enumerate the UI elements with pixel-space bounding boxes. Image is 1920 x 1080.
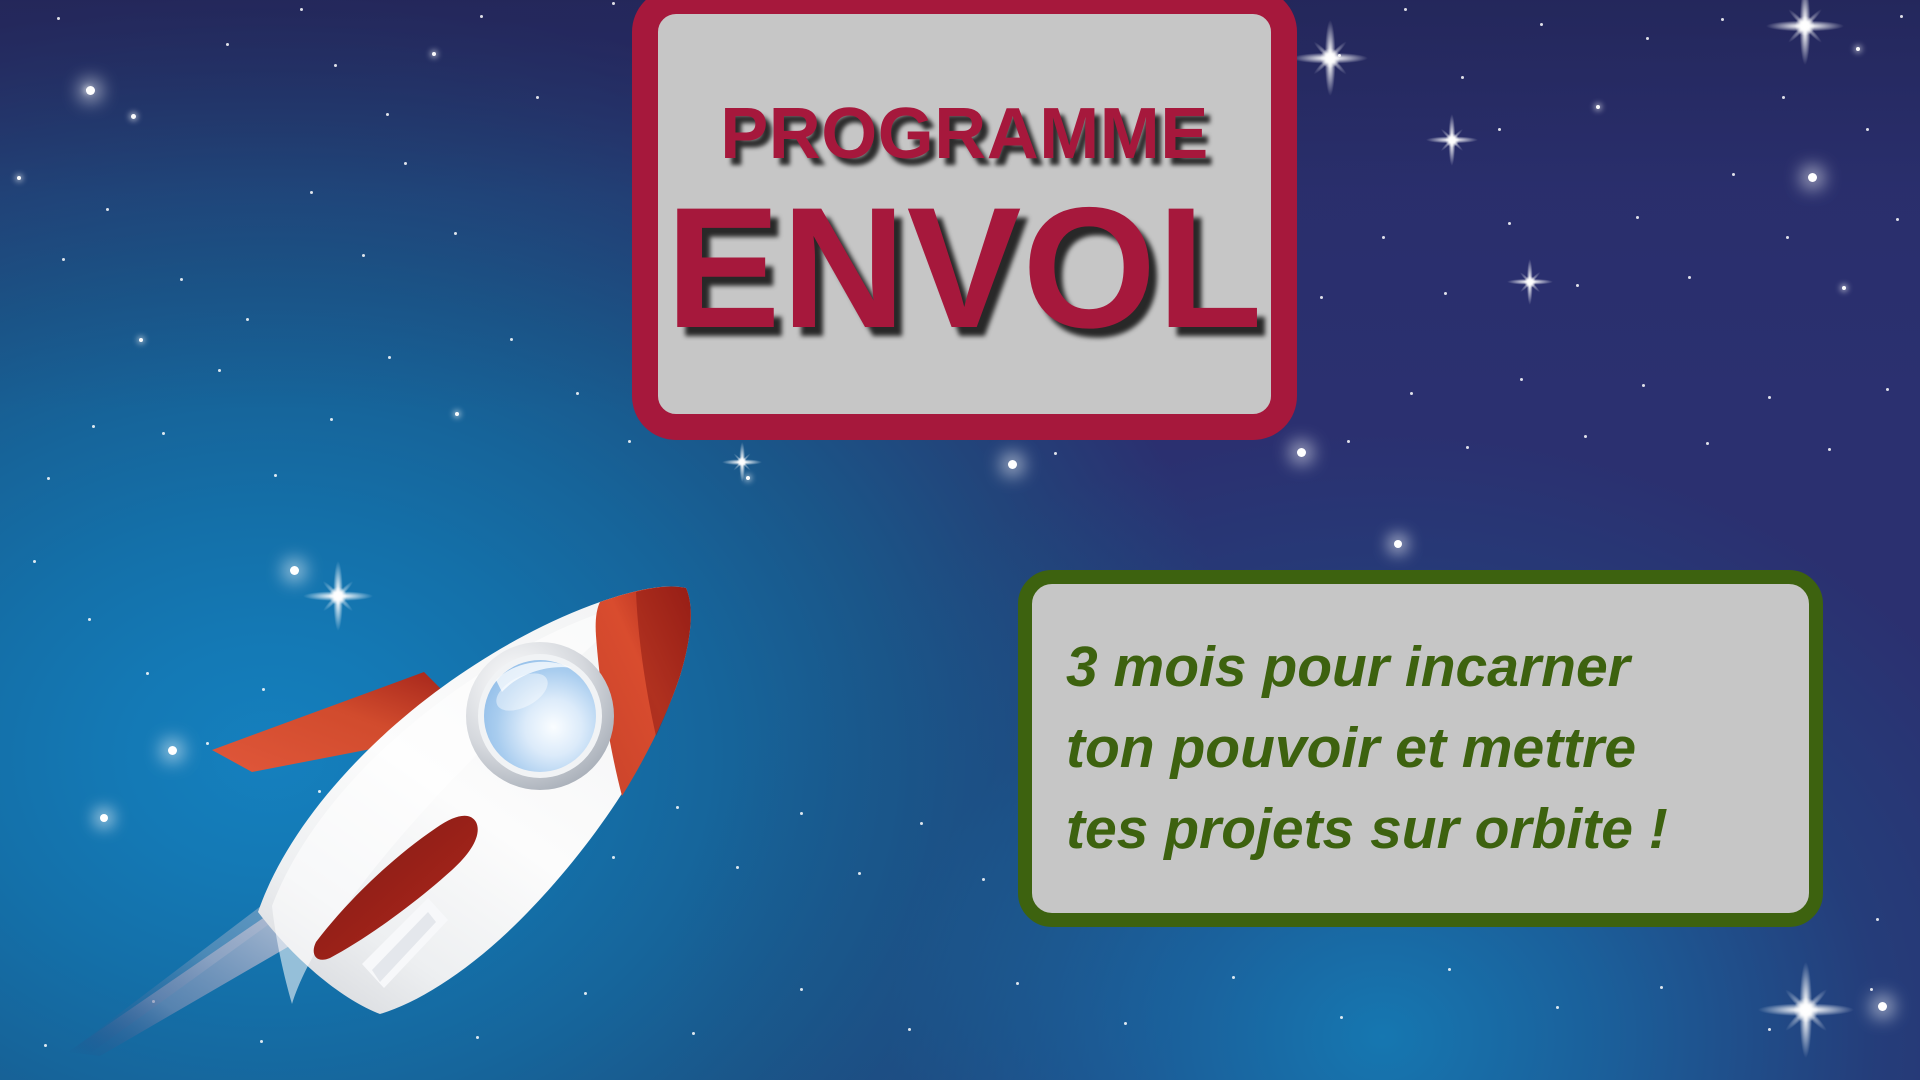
star (1054, 452, 1057, 455)
star (1876, 918, 1879, 921)
rocket-porthole-window (466, 642, 614, 790)
title-programme-text: PROGRAMME (720, 98, 1209, 170)
star (1900, 15, 1903, 18)
star-glow (1394, 540, 1402, 548)
tagline-line-1: 3 mois pour incarner (1066, 627, 1630, 708)
star (180, 278, 183, 281)
star (1688, 276, 1691, 279)
star (226, 43, 229, 46)
star (1660, 986, 1663, 989)
star (510, 338, 513, 341)
star (746, 476, 750, 480)
star (300, 8, 303, 11)
star-glow (1808, 173, 1817, 182)
star (92, 425, 95, 428)
star (388, 356, 391, 359)
star (1448, 968, 1451, 971)
star (576, 392, 579, 395)
star (858, 872, 861, 875)
star (1461, 76, 1464, 79)
star (1886, 388, 1889, 391)
star (1584, 435, 1587, 438)
star (334, 64, 337, 67)
star (131, 114, 136, 119)
star (480, 15, 483, 18)
poster-canvas: PROGRAMME ENVOL 3 mois pour incarner ton… (0, 0, 1920, 1080)
star (274, 474, 277, 477)
star (454, 232, 457, 235)
title-plaque: PROGRAMME ENVOL (632, 0, 1297, 440)
star (1508, 222, 1511, 225)
star (536, 96, 539, 99)
tagline-line-3: tes projets sur orbite ! (1066, 789, 1668, 870)
star (1404, 8, 1407, 11)
star (1410, 392, 1413, 395)
star (1576, 284, 1579, 287)
star (1786, 236, 1789, 239)
star (1466, 446, 1469, 449)
star (1828, 448, 1831, 451)
star (1721, 18, 1724, 21)
star (310, 191, 313, 194)
star-glow (1297, 448, 1306, 457)
star-glow (1878, 1002, 1887, 1011)
rocket-illustration (40, 540, 840, 1060)
tagline-line-2: ton pouvoir et mettre (1066, 708, 1636, 789)
star (1340, 1016, 1343, 1019)
star (1520, 378, 1523, 381)
star (455, 412, 459, 416)
star (1768, 1028, 1771, 1031)
star (106, 208, 109, 211)
star (1382, 236, 1385, 239)
star (628, 440, 631, 443)
star (1556, 1006, 1559, 1009)
star (612, 2, 615, 5)
star (1498, 128, 1501, 131)
star (1870, 988, 1873, 991)
star (1596, 105, 1600, 109)
star (1646, 37, 1649, 40)
star (1768, 396, 1771, 399)
star (1320, 296, 1323, 299)
star (362, 254, 365, 257)
star (1866, 128, 1869, 131)
star-glow (1008, 460, 1017, 469)
star (1842, 286, 1846, 290)
star (162, 432, 165, 435)
star (1232, 976, 1235, 979)
star (920, 822, 923, 825)
star (1706, 442, 1709, 445)
star (33, 560, 36, 563)
star (386, 113, 389, 116)
star (1782, 96, 1785, 99)
star (1856, 47, 1860, 51)
star (1338, 54, 1341, 57)
star (1540, 23, 1543, 26)
star (17, 176, 21, 180)
star (908, 1028, 911, 1031)
star (57, 17, 60, 20)
star (1444, 292, 1447, 295)
star (1016, 982, 1019, 985)
star (1732, 173, 1735, 176)
star (139, 338, 143, 342)
star (1347, 440, 1350, 443)
star (246, 318, 249, 321)
star (330, 418, 333, 421)
title-envol-text: ENVOL (666, 182, 1264, 354)
star (1642, 384, 1645, 387)
star (1896, 218, 1899, 221)
star (1636, 216, 1639, 219)
star (47, 477, 50, 480)
star (218, 369, 221, 372)
star (62, 258, 65, 261)
star (982, 878, 985, 881)
star (404, 162, 407, 165)
star (1124, 1022, 1127, 1025)
star (432, 52, 436, 56)
star-glow (86, 86, 95, 95)
tagline-plaque: 3 mois pour incarner ton pouvoir et mett… (1018, 570, 1823, 927)
